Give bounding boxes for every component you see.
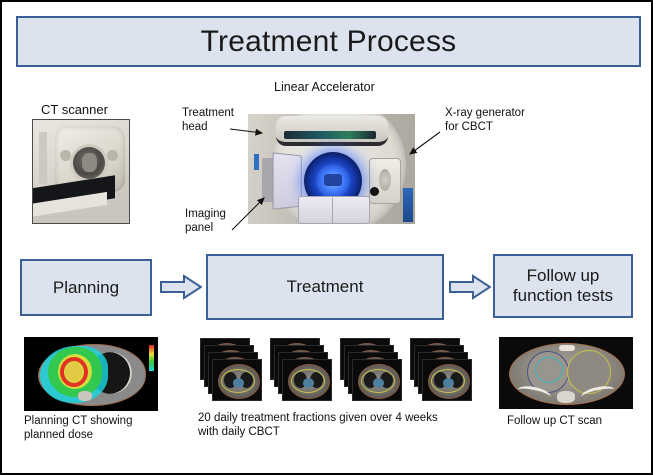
dose-colour-scale bbox=[149, 345, 154, 371]
ct-control-left bbox=[60, 150, 71, 161]
linac-port-dot bbox=[370, 187, 379, 196]
follow-up-ct-image bbox=[499, 337, 633, 409]
linac-wall-strip bbox=[254, 154, 259, 170]
caption-follow-up-ct: Follow up CT scan bbox=[507, 414, 647, 428]
process-step-treatment[interactable]: Treatment bbox=[206, 254, 444, 320]
ct-slice bbox=[422, 359, 472, 401]
slide-title-banner: Treatment Process bbox=[16, 16, 641, 67]
xray-generator-label: X-ray generator for CBCT bbox=[445, 106, 525, 135]
followup-spine bbox=[557, 391, 575, 403]
followup-sternum bbox=[559, 345, 575, 351]
linac-generator-knob bbox=[379, 169, 391, 191]
caption-planning-ct: Planning CT showing planned dose bbox=[24, 414, 174, 443]
ct-slice bbox=[352, 359, 402, 401]
ct-scanner-label: CT scanner bbox=[41, 102, 108, 118]
slide-canvas: Treatment Process Linear Accelerator CT … bbox=[0, 0, 653, 475]
ct-slice bbox=[282, 359, 332, 401]
page-title: Treatment Process bbox=[201, 25, 457, 59]
fraction-stack-4 bbox=[410, 338, 474, 404]
ct-slice bbox=[212, 359, 262, 401]
linac-treatment-couch bbox=[298, 196, 370, 224]
ct-scanner-photo bbox=[32, 119, 130, 224]
ct-bore-inner bbox=[82, 153, 97, 172]
process-step-follow-up[interactable]: Follow up function tests bbox=[493, 254, 633, 318]
linac-head-detail bbox=[284, 131, 376, 139]
dose-ct-spine bbox=[78, 391, 92, 401]
treatment-head-label: Treatment head bbox=[182, 106, 234, 135]
linac-beam-core bbox=[324, 174, 342, 186]
fraction-stack-2 bbox=[270, 338, 334, 404]
fraction-stack-1 bbox=[200, 338, 264, 404]
isodose-hotspot bbox=[65, 362, 82, 382]
ct-post bbox=[39, 132, 47, 184]
linac-blue-rail bbox=[403, 188, 413, 222]
linac-xray-generator bbox=[369, 158, 401, 204]
caption-fractions: 20 daily treatment fractions given over … bbox=[198, 411, 488, 440]
linac-heading: Linear Accelerator bbox=[274, 80, 375, 96]
followup-tumour-contour bbox=[535, 357, 563, 383]
flow-arrow-2 bbox=[449, 274, 491, 300]
process-step-planning[interactable]: Planning bbox=[20, 259, 152, 316]
planning-dose-ct-image bbox=[24, 337, 158, 411]
imaging-panel-label: Imaging panel bbox=[185, 207, 226, 236]
linac-couch-seam bbox=[332, 198, 333, 224]
linear-accelerator-photo bbox=[248, 114, 415, 224]
fraction-stack-3 bbox=[340, 338, 404, 404]
ct-control-right bbox=[107, 150, 118, 161]
flow-arrow-1 bbox=[160, 274, 202, 300]
